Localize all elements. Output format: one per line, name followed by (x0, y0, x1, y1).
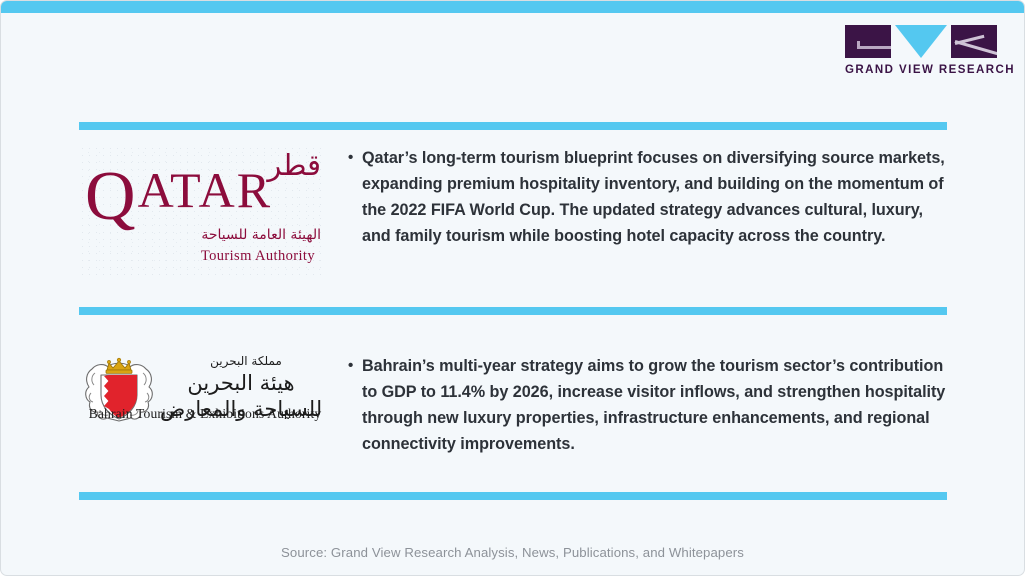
bullet-marker-icon: • (348, 145, 362, 249)
qatar-logo-cell: قطر QATAR الهيئة العامة للسياحة Tourism … (79, 145, 341, 277)
bahrain-logo-cell: مملكة البحرين هيئة البحرين للسياحة والمع… (79, 353, 341, 433)
bullet-item: • Bahrain’s multi-year strategy aims to … (348, 353, 947, 457)
grand-view-research-logo-icon (845, 25, 997, 58)
top-accent-bar (1, 1, 1025, 13)
qatar-arabic-subtitle: الهيئة العامة للسياحة (201, 227, 321, 244)
slide-canvas: GRAND VIEW RESEARCH قطر QATAR الهيئة الع… (0, 0, 1025, 576)
bahrain-logo-subtitle: Bahrain Tourism & Exhibitions Authority (79, 406, 331, 422)
brand-logo: GRAND VIEW RESEARCH (845, 25, 997, 76)
source-note: Source: Grand View Research Analysis, Ne… (1, 545, 1024, 560)
qatar-text-cell: • Qatar’s long-term tourism blueprint fo… (341, 145, 947, 249)
logo-left-block-icon (845, 25, 891, 58)
bahrain-text-cell: • Bahrain’s multi-year strategy aims to … (341, 353, 947, 457)
divider-top (79, 122, 947, 130)
qatar-arabic-wordmark: قطر (267, 151, 321, 180)
logo-left-stroke-icon (857, 46, 891, 49)
bahrain-arabic-kingdom: مملكة البحرين (161, 355, 331, 367)
divider-bottom (79, 492, 947, 500)
logo-triangle-icon (895, 25, 947, 58)
brand-name: GRAND VIEW RESEARCH (845, 64, 997, 76)
bullet-text: Qatar’s long-term tourism blueprint focu… (362, 145, 947, 249)
qatar-wordmark-rest: ATAR (138, 162, 273, 218)
bullet-item: • Qatar’s long-term tourism blueprint fo… (348, 145, 947, 249)
logo-right-block-icon (951, 25, 997, 58)
bullet-text: Bahrain’s multi-year strategy aims to gr… (362, 353, 947, 457)
qatar-wordmark: QATAR (85, 165, 272, 225)
bahrain-tourism-exhibitions-authority-logo-icon: مملكة البحرين هيئة البحرين للسياحة والمع… (79, 353, 331, 433)
bullet-marker-icon: • (348, 353, 362, 457)
logo-left-stroke-vertical-icon (857, 41, 860, 49)
qatar-logo-subtitle: Tourism Authority (201, 248, 315, 265)
divider-middle (79, 307, 947, 315)
row-bahrain: مملكة البحرين هيئة البحرين للسياحة والمع… (79, 353, 947, 457)
qatar-wordmark-initial: Q (85, 158, 138, 235)
row-qatar: قطر QATAR الهيئة العامة للسياحة Tourism … (79, 145, 947, 277)
qatar-tourism-authority-logo-icon: قطر QATAR الهيئة العامة للسياحة Tourism … (79, 145, 327, 277)
